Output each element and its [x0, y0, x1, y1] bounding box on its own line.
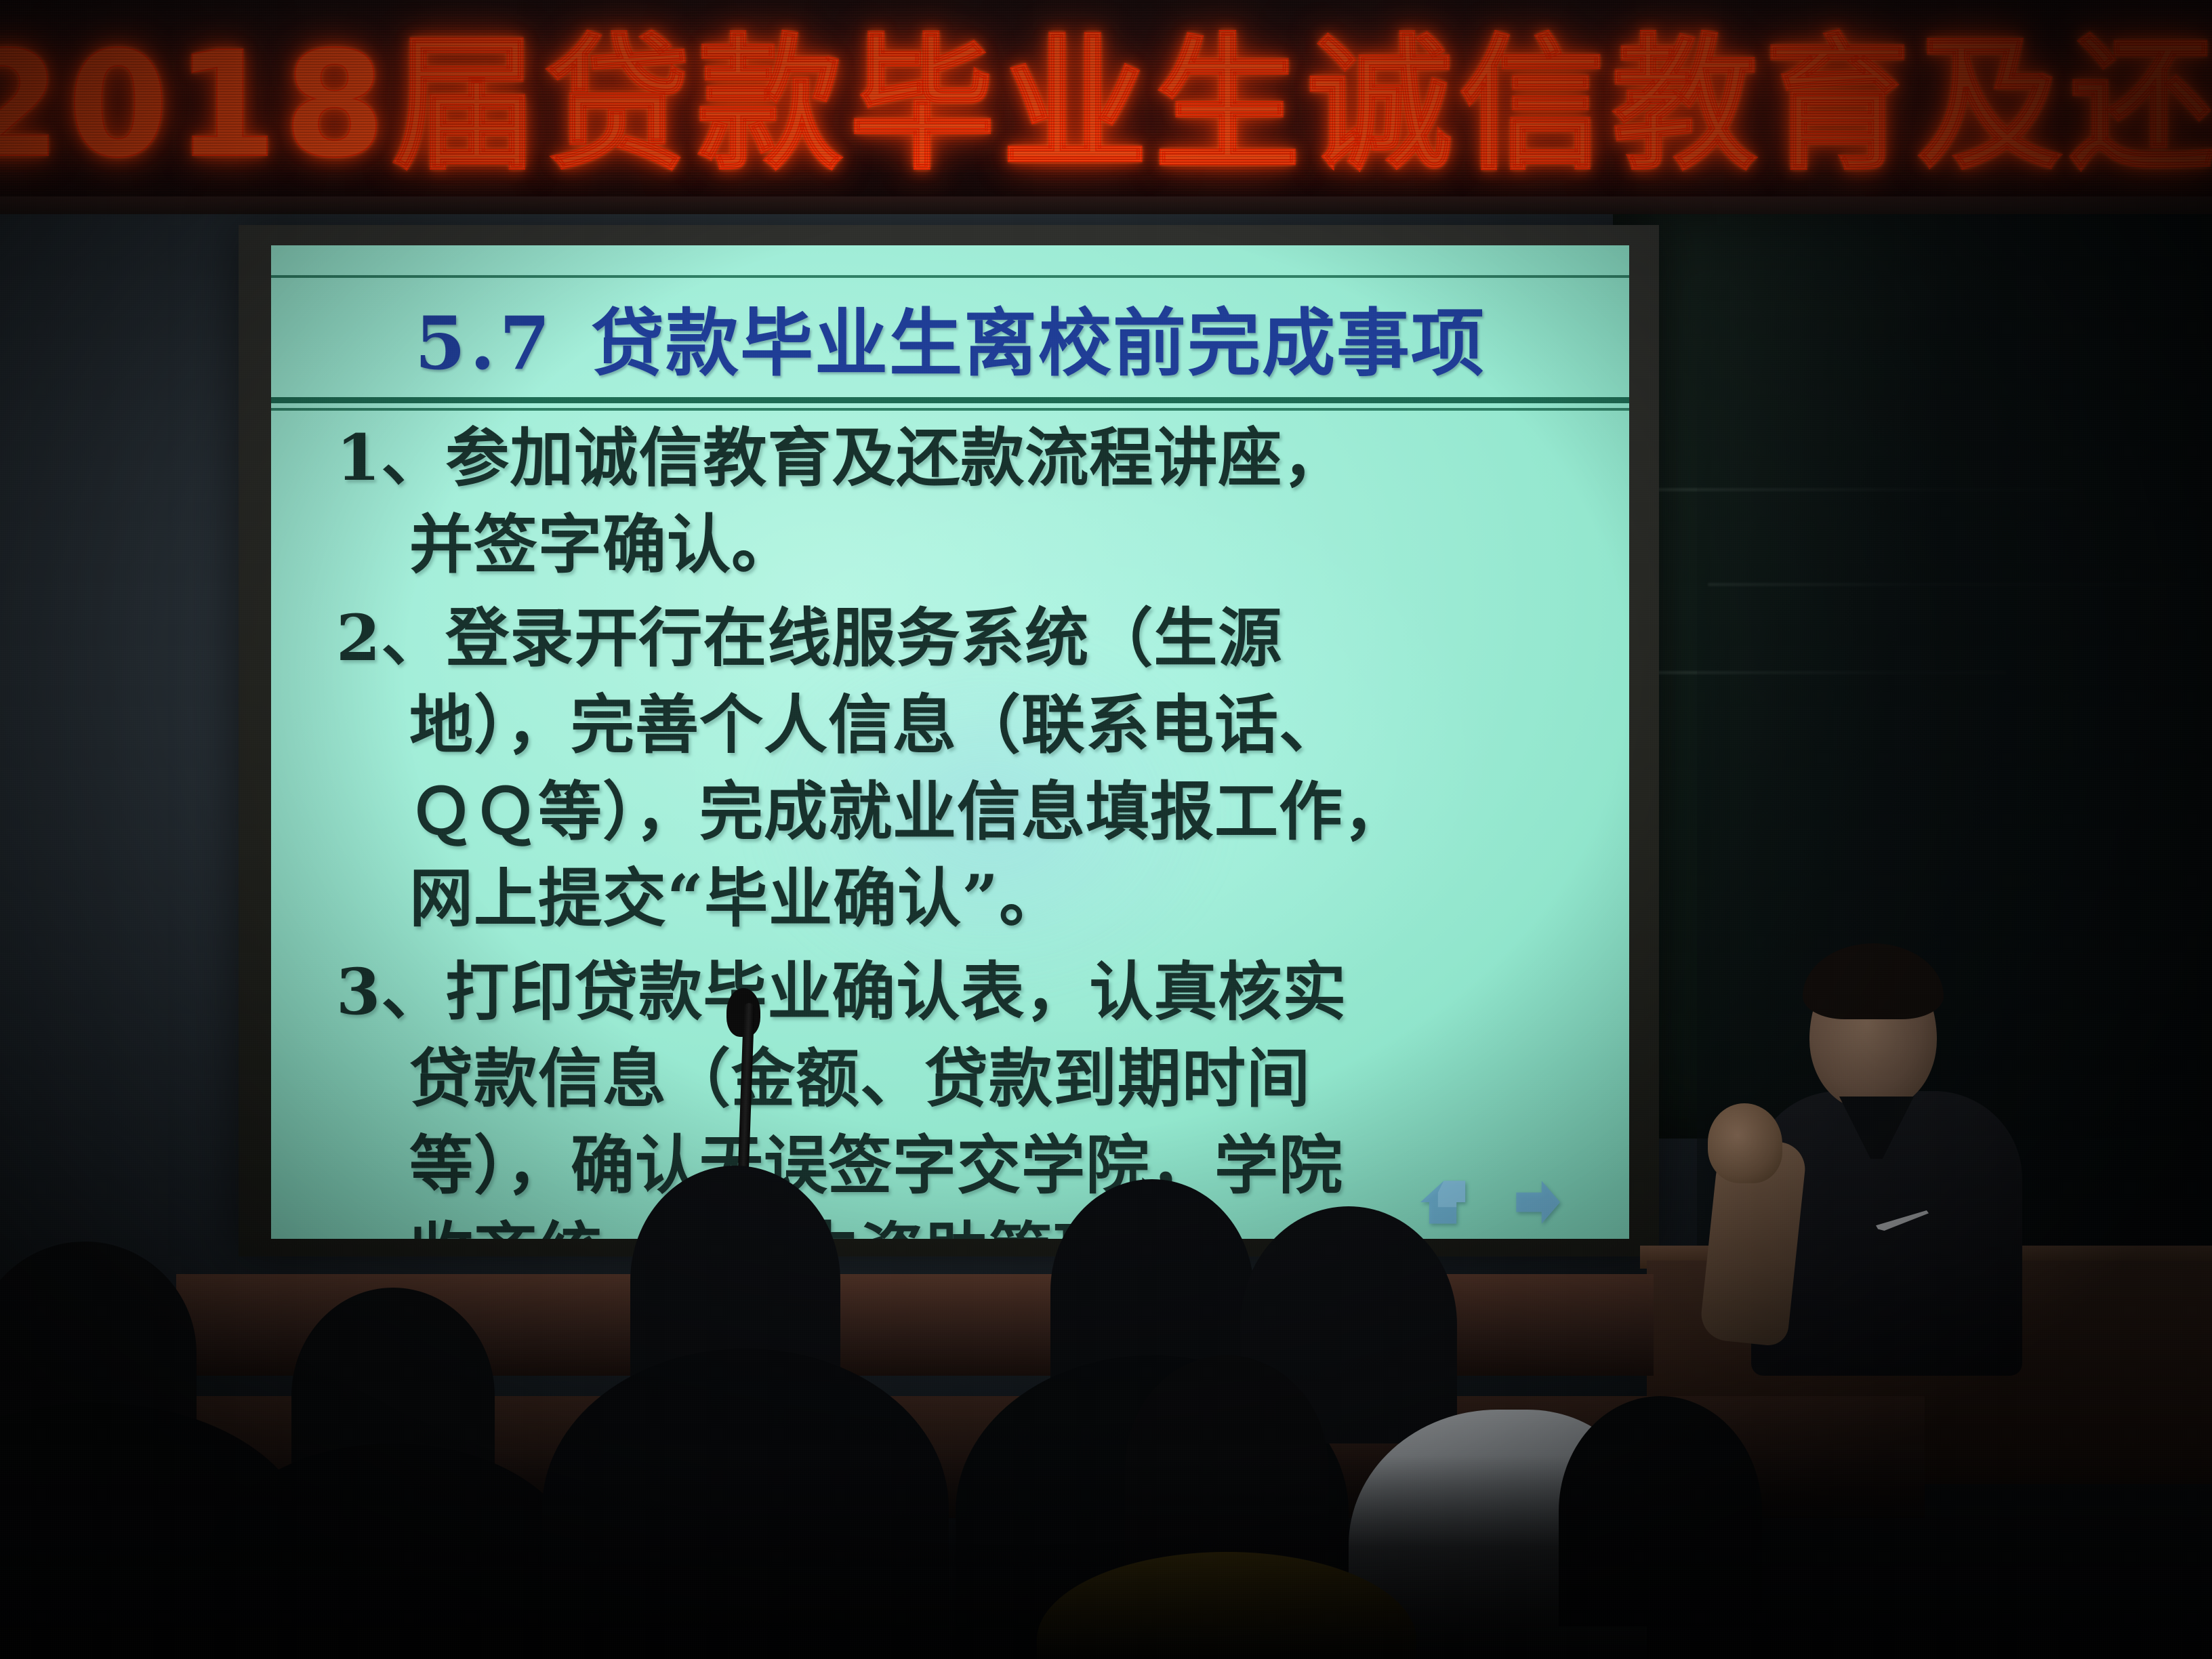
- foreground-shadow: [0, 1456, 2212, 1659]
- slide-line: 3、打印贷款毕业确认表，认真核实: [336, 949, 1597, 1036]
- slide-title-heading: 贷款毕业生离校前完成事项: [591, 301, 1486, 386]
- presenter-hair: [1803, 943, 1944, 1019]
- slide-rule-top: [271, 275, 1629, 278]
- led-banner-text: 2018届贷款毕业生诚信教育及还款: [0, 7, 2212, 203]
- banner-bottom-edge: [0, 197, 2212, 214]
- slide-body: 1、参加诚信教育及还款流程讲座， 并签字确认。 2、登录开行在线服务系统（生源 …: [336, 415, 1597, 1239]
- slide-title: 5.7贷款毕业生离校前完成事项: [271, 304, 1629, 384]
- slide-item-3: 3、打印贷款毕业确认表，认真核实 贷款信息（金额、贷款到期时间 等），确认无误签…: [336, 949, 1597, 1239]
- led-banner: 2018届贷款毕业生诚信教育及还款: [0, 0, 2212, 203]
- prev-arrow-icon[interactable]: [1416, 1178, 1469, 1227]
- slide-nav-arrows[interactable]: [1416, 1178, 1564, 1227]
- presenter-hand: [1708, 1103, 1782, 1183]
- presenter: [1694, 943, 2074, 1364]
- lecture-hall-photo: 2018届贷款毕业生诚信教育及还款 5.7贷款毕业生离校前完成事项 1、参加诚信…: [0, 0, 2212, 1659]
- slide-title-number: 5.7: [415, 301, 554, 386]
- projection-screen: 5.7贷款毕业生离校前完成事项 1、参加诚信教育及还款流程讲座， 并签字确认。 …: [271, 245, 1629, 1239]
- next-arrow-icon[interactable]: [1511, 1178, 1564, 1227]
- slide-rule-under-title: [271, 397, 1629, 403]
- slide-line: ＱＱ等），完成就业信息填报工作，: [336, 769, 1597, 855]
- slide-line: 等），确认无误签字交学院，学院: [336, 1122, 1597, 1209]
- slide-line: 2、登录开行在线服务系统（生源: [336, 595, 1597, 682]
- slide-line: 网上提交“毕业确认”。: [336, 855, 1597, 942]
- slide-item-1: 1、参加诚信教育及还款流程讲座， 并签字确认。: [336, 415, 1597, 588]
- slide-line: 1、参加诚信教育及还款流程讲座，: [336, 415, 1597, 501]
- slide-rule-under-title-thin: [271, 408, 1629, 411]
- slide-line: 贷款信息（金额、贷款到期时间: [336, 1036, 1597, 1122]
- slide-line: 并签字确认。: [336, 501, 1597, 588]
- slide-item-2: 2、登录开行在线服务系统（生源 地），完善个人信息（联系电话、 ＱＱ等），完成就…: [336, 595, 1597, 942]
- slide-line: 地），完善个人信息（联系电话、: [336, 682, 1597, 769]
